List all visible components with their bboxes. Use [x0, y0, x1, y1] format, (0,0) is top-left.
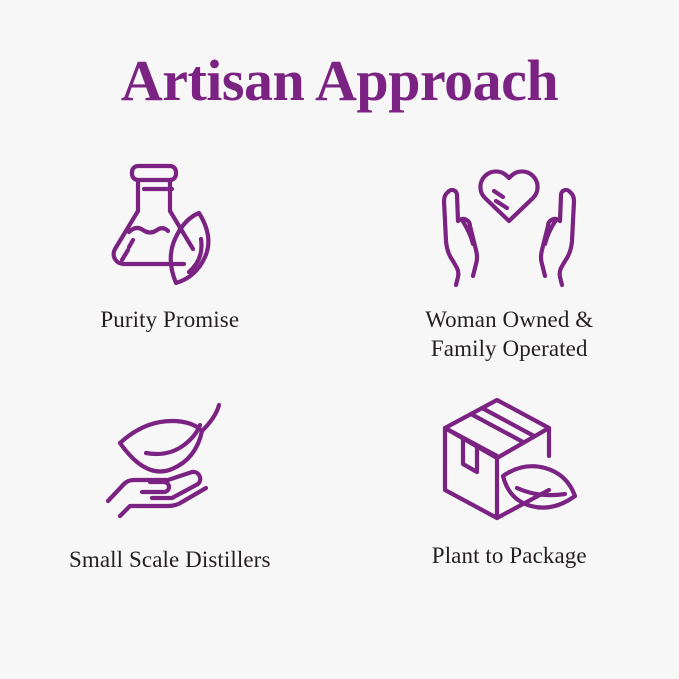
feature-label: Plant to Package	[432, 542, 587, 571]
feature-item-purity-promise: Purity Promise	[0, 152, 340, 382]
flask-leaf-icon	[87, 152, 253, 292]
feature-label: Purity Promise	[100, 306, 239, 335]
feature-label: Woman Owned & Family Operated	[425, 306, 593, 363]
feature-label: Small Scale Distillers	[69, 546, 271, 575]
artisan-approach-infographic: Artisan Approach	[0, 0, 679, 679]
package-leaf-icon	[429, 382, 589, 528]
feature-item-woman-owned: Woman Owned & Family Operated	[340, 152, 679, 382]
hands-heart-icon	[429, 152, 589, 292]
hand-leaf-icon	[90, 382, 250, 532]
feature-item-small-scale-distillers: Small Scale Distillers	[0, 382, 340, 612]
page-title: Artisan Approach	[0, 52, 679, 110]
feature-grid: Purity Promise	[0, 152, 679, 612]
feature-item-plant-to-package: Plant to Package	[340, 382, 679, 612]
